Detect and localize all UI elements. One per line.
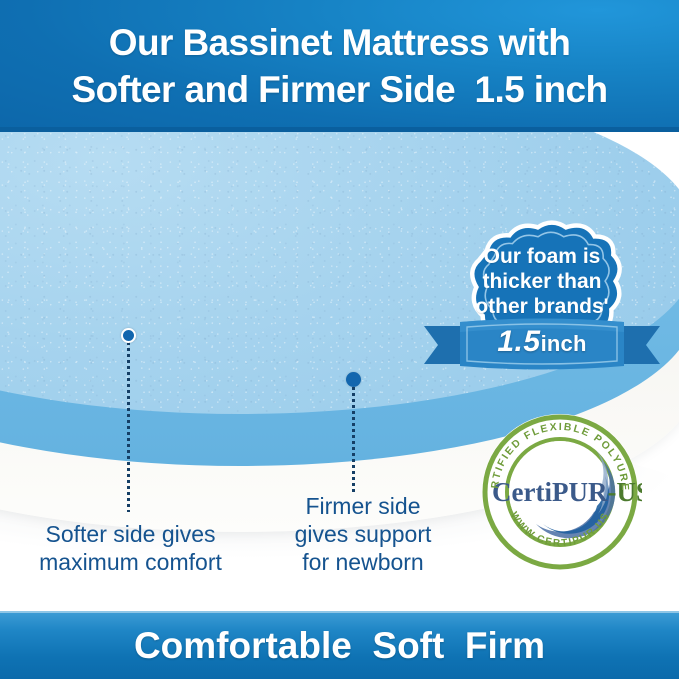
leader-line-firmer: [352, 387, 355, 492]
callout-label-softer: Softer side gives maximum comfort: [8, 520, 253, 576]
footer-banner: Comfortable Soft Firm: [0, 611, 679, 679]
header-title-line-1: Our Bassinet Mattress with: [109, 19, 570, 66]
leader-line-softer: [127, 342, 130, 512]
product-infographic: Our Bassinet Mattress with Softer and Fi…: [0, 0, 679, 679]
badge-ribbon-text: 1.5inch: [452, 325, 632, 359]
badge-claim-text: Our foam is thicker than other brands': [458, 244, 626, 319]
callout-dot-firmer[interactable]: [346, 372, 361, 387]
ribbon-unit: inch: [541, 331, 587, 356]
callout-label-firmer: Firmer side gives support for newborn: [272, 492, 454, 576]
certipur-us-logo: CertiPUR-US® CONTAINS CERTIFIED FLEXIBLE…: [478, 410, 642, 574]
header-title-line-2: Softer and Firmer Side 1.5 inch: [72, 66, 608, 113]
callout-dot-softer[interactable]: [121, 328, 136, 343]
header-banner: Our Bassinet Mattress with Softer and Fi…: [0, 0, 679, 127]
foam-thickness-badge: Our foam is thicker than other brands' 1…: [452, 218, 632, 388]
ribbon-value: 1.5: [497, 325, 540, 358]
certipur-brand: CertiPUR: [492, 477, 608, 507]
footer-text: Comfortable Soft Firm: [134, 625, 545, 667]
